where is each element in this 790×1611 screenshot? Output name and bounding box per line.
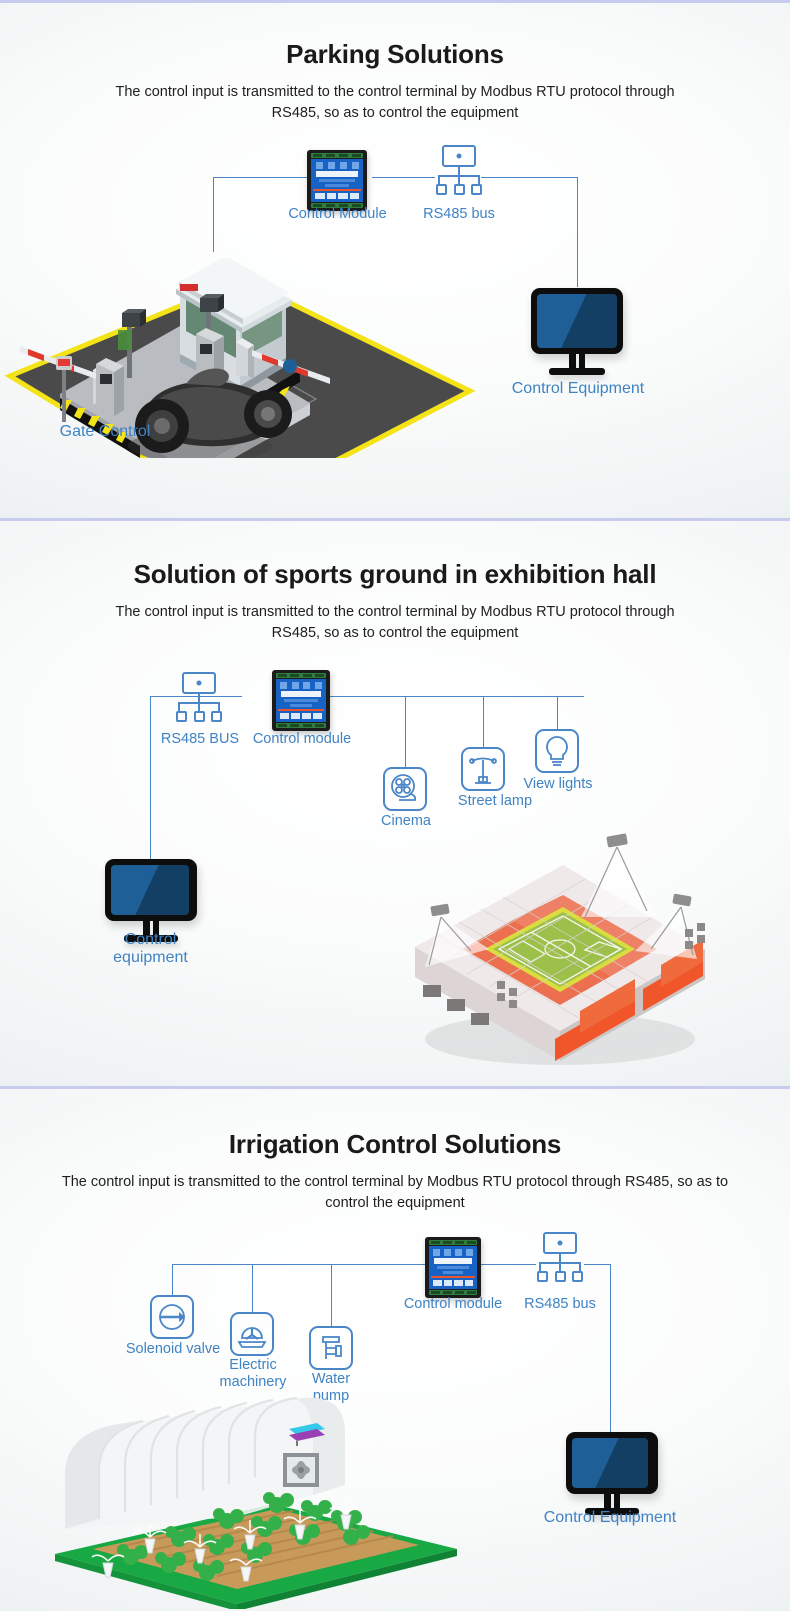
rs485-bus-icon <box>436 145 482 195</box>
label-water-pump-line1: Water <box>312 1371 350 1387</box>
label-rs485-bus: RS485 bus <box>508 1296 612 1313</box>
electric-machinery-icon <box>230 1312 274 1356</box>
module-faceplate <box>276 679 326 722</box>
label-control-equipment: Control Equipment <box>510 1509 710 1527</box>
subtitle-irrigation: The control input is transmitted to the … <box>55 1172 735 1214</box>
label-rs485-bus: RS485 bus <box>404 206 514 223</box>
label-control-equipment-line1: Control <box>125 931 177 948</box>
stadium-illustration <box>385 799 725 1069</box>
monitor-icon <box>105 859 197 942</box>
label-control-equipment: Control Equipment <box>478 380 678 398</box>
label-control-equipment-line2: equipment <box>113 949 188 966</box>
connector-left-h <box>172 1264 426 1265</box>
connector-viewlights-v <box>557 696 558 729</box>
label-control-module: Control module <box>388 1296 518 1313</box>
monitor-icon <box>531 288 623 375</box>
module-terminal-bottom <box>429 1290 477 1295</box>
connector-mid-h <box>481 1264 536 1265</box>
page-title-irrigation: Irrigation Control Solutions <box>0 1089 790 1160</box>
page-title-exhibition: Solution of sports ground in exhibition … <box>0 521 790 590</box>
connector-solenoid-v <box>172 1264 173 1295</box>
connector-right-h <box>584 1264 610 1265</box>
connector-monitor-v <box>150 696 151 872</box>
connector-right-v <box>577 177 578 287</box>
street-lamp-icon <box>461 747 505 791</box>
label-control-module: Control module <box>238 731 366 748</box>
section-irrigation: Irrigation Control Solutions The control… <box>0 1089 790 1611</box>
bus-dot-icon <box>558 1241 563 1246</box>
water-pump-icon <box>309 1326 353 1370</box>
module-faceplate <box>429 1246 477 1289</box>
bus-dot-icon <box>457 154 462 159</box>
module-faceplate <box>311 159 363 202</box>
greenhouse-illustration <box>45 1389 465 1609</box>
connector-right-h <box>481 177 577 178</box>
label-view-lights: View lights <box>508 776 608 793</box>
module-terminal-bottom <box>276 723 326 728</box>
control-module-device <box>425 1237 481 1298</box>
label-electric-machinery-line2: machinery <box>220 1374 287 1390</box>
label-control-module: Control Module <box>270 206 405 223</box>
connector-left-h <box>213 177 308 178</box>
solenoid-valve-icon <box>150 1295 194 1339</box>
module-terminal-top <box>276 673 326 678</box>
subtitle-exhibition: The control input is transmitted to the … <box>105 602 685 644</box>
greenhouse-svg <box>45 1389 465 1609</box>
bus-dot-icon <box>197 681 202 686</box>
connector-right-h <box>330 696 584 697</box>
subtitle-parking: The control input is transmitted to the … <box>115 82 675 124</box>
section-exhibition: Solution of sports ground in exhibition … <box>0 521 790 1086</box>
bulb-icon <box>535 729 579 773</box>
rs485-bus-icon <box>537 1232 583 1282</box>
rs485-bus-icon <box>176 672 222 722</box>
label-solenoid-valve: Solenoid valve <box>113 1341 233 1358</box>
stadium-svg <box>385 799 725 1069</box>
control-module-device <box>272 670 330 731</box>
label-electric-machinery-line1: Electric <box>229 1357 277 1373</box>
label-control-equipment: Control equipment <box>88 931 213 968</box>
module-terminal-top <box>311 153 363 158</box>
page-title-parking: Parking Solutions <box>0 3 790 70</box>
connector-left-v <box>213 177 214 252</box>
monitor-icon <box>566 1432 658 1515</box>
control-module-device <box>307 150 367 211</box>
connector-streetlamp-v <box>483 696 484 747</box>
connector-pump-v <box>331 1264 332 1326</box>
label-gate-control: Gate Control <box>40 423 170 441</box>
module-terminal-top <box>429 1240 477 1245</box>
page-root: Parking Solutions The control input is t… <box>0 0 790 1611</box>
label-electric-machinery: Electric machinery <box>216 1357 290 1390</box>
connector-mid-h <box>372 177 435 178</box>
connector-cinema-v <box>405 696 406 767</box>
connector-electric-v <box>252 1264 253 1312</box>
section-parking: Parking Solutions The control input is t… <box>0 3 790 518</box>
connector-monitor-v <box>610 1264 611 1432</box>
